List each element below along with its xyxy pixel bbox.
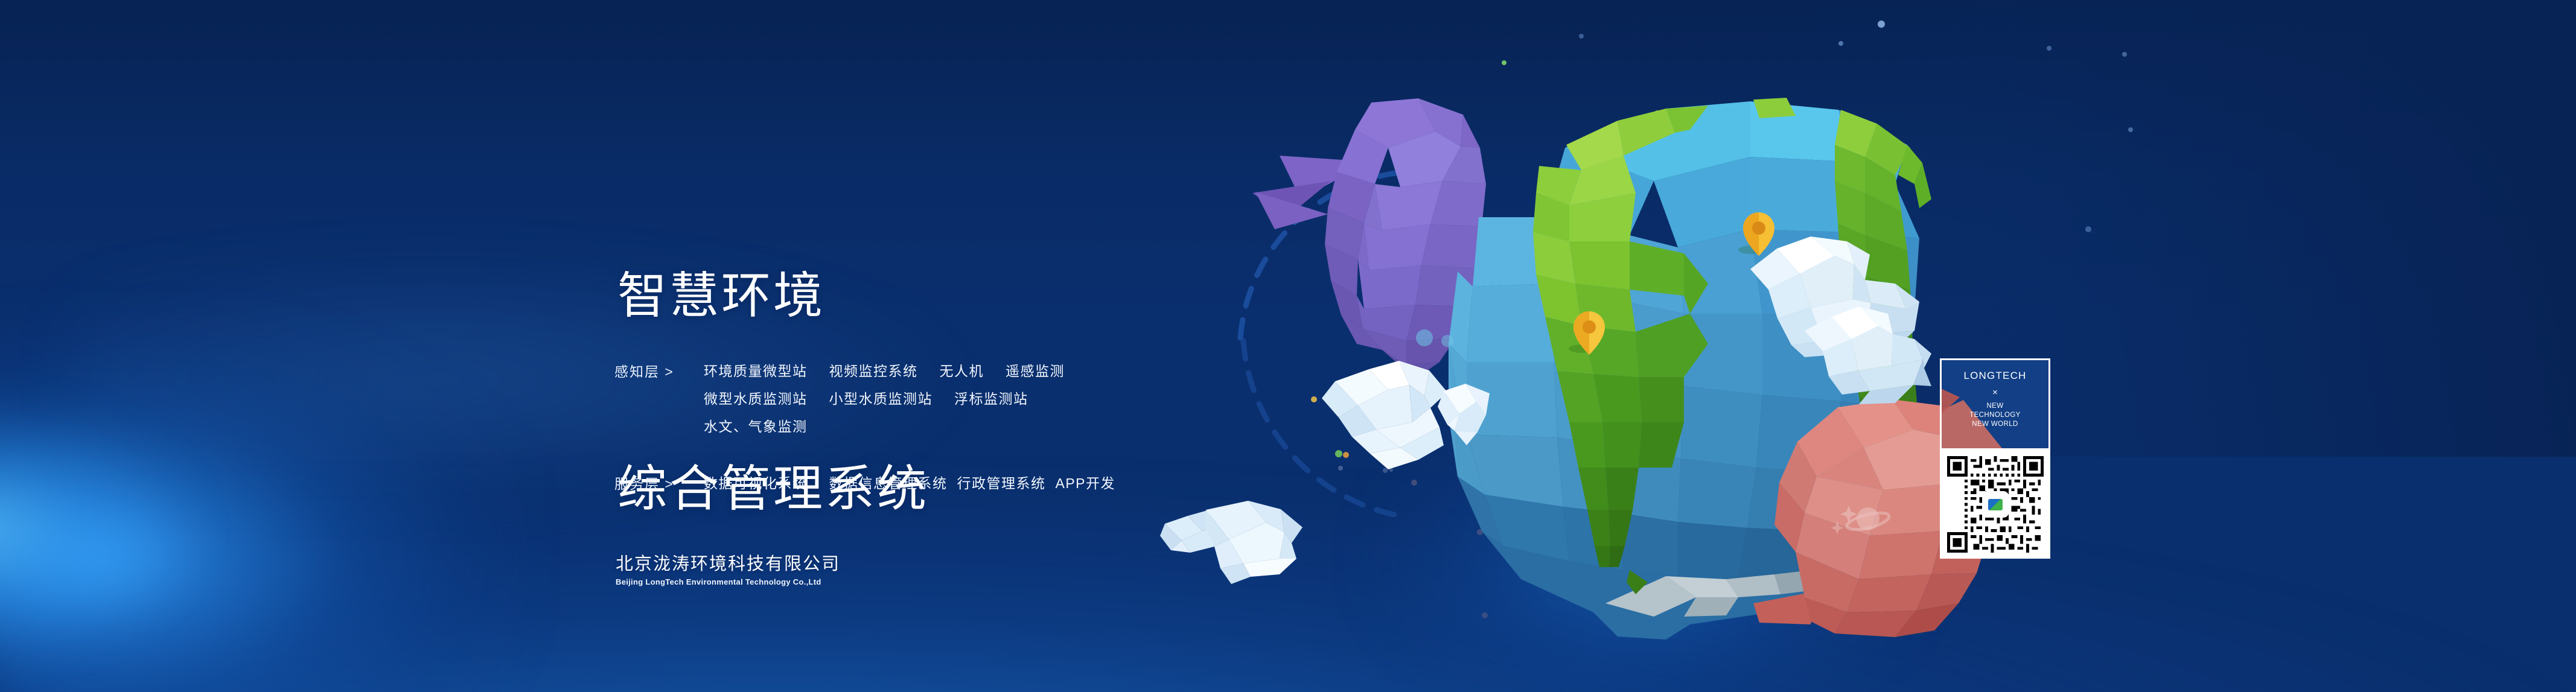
qr-center-logo-mark: [1988, 499, 2003, 510]
feature-item[interactable]: 行政管理系统: [957, 472, 1046, 492]
layer-line: 环境质量微型站 视频监控系统 无人机 遥感监测: [704, 360, 1065, 380]
feature-item[interactable]: 无人机: [940, 360, 984, 380]
qr-code-panel[interactable]: [1940, 450, 2050, 559]
tagline-line-3: NEW WORLD: [1972, 421, 2018, 428]
feature-item[interactable]: 遥感监测: [1006, 360, 1065, 380]
feature-item[interactable]: 小型水质监测站: [829, 387, 933, 408]
layer-items-sensing: 环境质量微型站 视频监控系统 无人机 遥感监测 微型水质监测站 小型水质监测站 …: [694, 360, 1065, 436]
qr-center-logo: [1985, 494, 2006, 515]
feature-item[interactable]: 水文、气象监测: [704, 415, 808, 436]
company-name-en: Beijing LongTech Environmental Technolog…: [616, 577, 840, 586]
title-line-1: 智慧环境: [617, 264, 929, 329]
company-name-cn: 北京泷涛环境科技有限公司: [616, 555, 840, 574]
background-left-glow-core: [0, 402, 199, 656]
background-right-shade: [1597, 0, 2576, 457]
feature-item[interactable]: 浮标监测站: [954, 387, 1028, 408]
brand-tagline: NEW TECHNOLOGY NEW WORLD: [1969, 402, 2021, 430]
feature-item[interactable]: 微型水质监测站: [704, 387, 808, 408]
layer-row-sensing: 感知层 > 环境质量微型站 视频监控系统 无人机 遥感监测 微型水质监测站 小型…: [614, 360, 1115, 436]
qr-card-header: LONGTECH × NEW TECHNOLOGY NEW WORLD: [1940, 358, 2050, 450]
feature-item[interactable]: 视频监控系统: [829, 360, 918, 380]
background-globe-glow: [1376, 459, 1919, 692]
cross-icon: ×: [1992, 387, 1998, 398]
qr-card: LONGTECH × NEW TECHNOLOGY NEW WORLD: [1940, 358, 2050, 559]
feature-item[interactable]: APP开发: [1056, 472, 1116, 492]
hero-banner: 智慧环境 综合管理系统 感知层 > 环境质量微型站 视频监控系统 无人机 遥感监…: [0, 0, 2576, 692]
tagline-line-2: TECHNOLOGY: [1969, 411, 2021, 419]
layer-line: 微型水质监测站 小型水质监测站 浮标监测站: [704, 387, 1065, 408]
feature-item[interactable]: 数据可视化系统: [704, 472, 808, 492]
company-signature: 北京泷涛环境科技有限公司 Beijing LongTech Environmen…: [616, 555, 840, 586]
feature-item[interactable]: 环境质量微型站: [704, 360, 808, 380]
layer-row-service: 服务层 > 数据可视化系统 数据信息管理系统 行政管理系统 APP开发: [614, 472, 1115, 493]
layer-label-sensing: 感知层 >: [614, 360, 694, 381]
layer-label-service: 服务层 >: [614, 472, 694, 493]
tagline-line-1: NEW: [1986, 402, 2003, 410]
qr-code-icon[interactable]: [1947, 456, 2044, 553]
layer-line: 数据可视化系统 数据信息管理系统 行政管理系统 APP开发: [704, 472, 1115, 492]
layer-line: 水文、气象监测: [704, 415, 1065, 436]
brand-name: LONGTECH: [1963, 370, 2026, 382]
feature-item[interactable]: 数据信息管理系统: [829, 472, 948, 492]
layer-items-service: 数据可视化系统 数据信息管理系统 行政管理系统 APP开发: [694, 472, 1115, 492]
feature-layers: 感知层 > 环境质量微型站 视频监控系统 无人机 遥感监测 微型水质监测站 小型…: [614, 360, 1115, 493]
